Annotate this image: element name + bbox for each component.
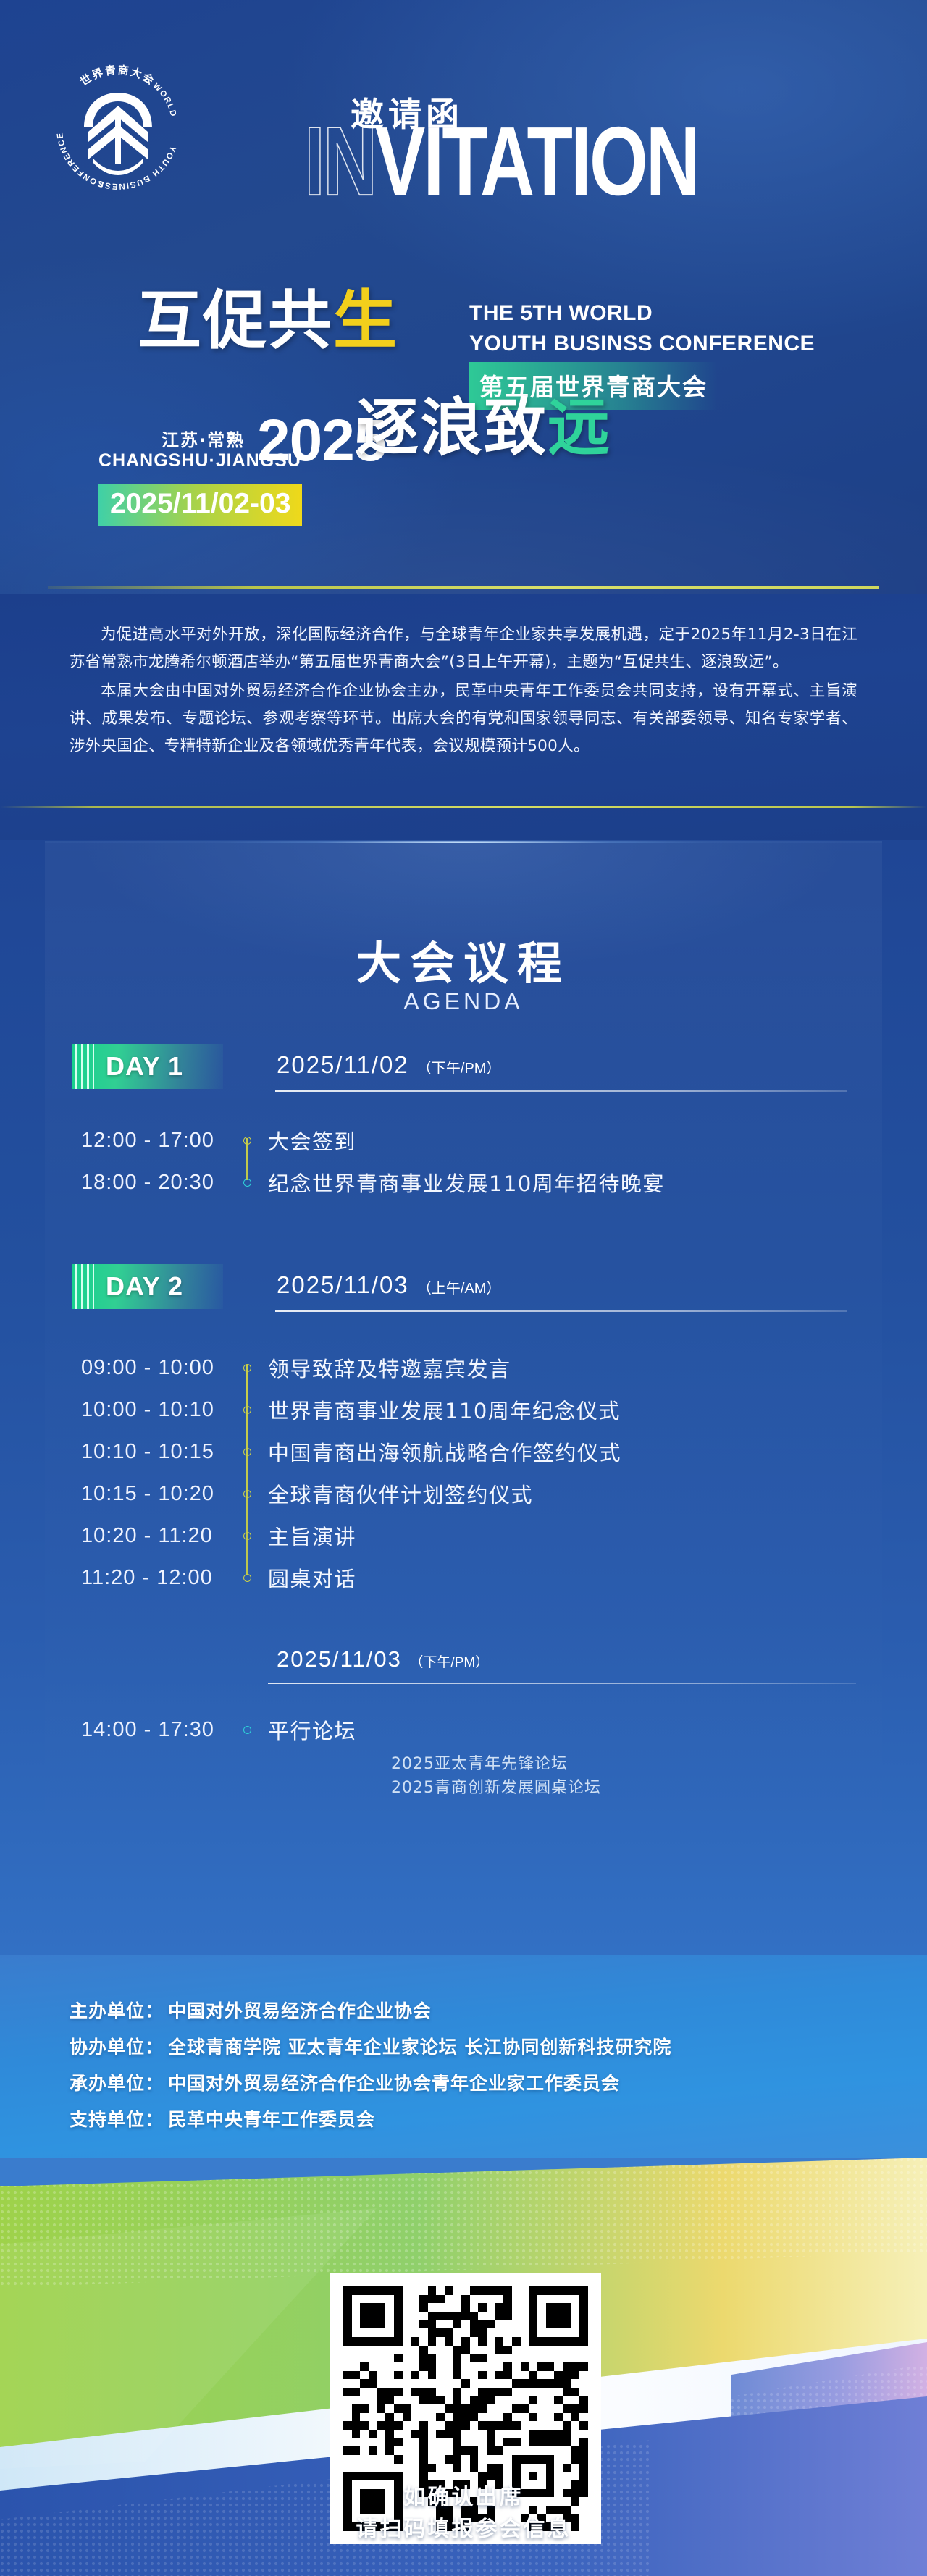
- timeline-dot-icon: [243, 1532, 251, 1540]
- slogan-line-1-accent: 生: [333, 282, 398, 358]
- slot-label: 世界青商事业发展110周年纪念仪式: [268, 1394, 621, 1425]
- date-range-text: 2025/11/02-03: [110, 488, 290, 519]
- place-cn: 江苏·常熟: [162, 426, 245, 451]
- slogan-line-2: 逐浪致远: [356, 397, 611, 459]
- afternoon-slots: 14:00 - 17:30 平行论坛 2025亚太青年先锋论坛 2025青商创新…: [81, 1697, 927, 1800]
- timeline-dot-icon: [243, 1726, 251, 1734]
- day-badge-1: DAY 1: [72, 1044, 223, 1089]
- organizer-key: 支持单位：: [70, 2105, 164, 2131]
- day-2-date: 2025/11/03 （上午/AM）: [277, 1271, 500, 1299]
- slot-label: 主旨演讲: [268, 1520, 356, 1551]
- slot-time: 18:00 - 20:30: [81, 1171, 226, 1195]
- agenda-title: 大会议程: [0, 927, 927, 992]
- timeline-dot-icon: [243, 1137, 251, 1145]
- slot-label: 大会签到: [268, 1125, 356, 1156]
- organizer-value: 民革中央青年工作委员会: [168, 2105, 375, 2131]
- date-range-chip: 2025/11/02-03: [98, 484, 302, 526]
- slogan-line-1: 互促共生: [138, 288, 398, 352]
- agenda-day-header: DAY 1 2025/11/02 （下午/PM）: [72, 1034, 927, 1105]
- slot-dot-column: [226, 1364, 268, 1372]
- slot-label: 圆桌对话: [268, 1562, 356, 1593]
- organizer-value: 中国对外贸易经济合作企业协会青年企业家工作委员会: [168, 2069, 620, 2095]
- slot-dot-column: [226, 1490, 268, 1498]
- svg-text:世界青商大会: 世界青商大会: [77, 64, 157, 89]
- divider-bottom: [0, 806, 927, 808]
- slot-dot-column: [226, 1137, 268, 1145]
- slot-label: 领导致辞及特邀嘉宾发言: [268, 1352, 511, 1383]
- agenda-slot: 18:00 - 20:30 纪念世界青商事业发展110周年招待晚宴: [81, 1161, 927, 1203]
- svg-text:CONFERENCE: CONFERENCE: [56, 131, 105, 188]
- slogan-line-2-main: 逐浪致: [356, 391, 548, 464]
- agenda-slot: 10:00 - 10:10 世界青商事业发展110周年纪念仪式: [81, 1389, 927, 1431]
- slot-dot-column: [226, 1448, 268, 1456]
- slot-time: 12:00 - 17:00: [81, 1129, 226, 1153]
- footer-cta: 如确认出席 请扫码填报参会信息: [0, 2482, 927, 2546]
- intro-paragraph-2: 本届大会由中国对外贸易经济合作企业协会主办，民革中央青年工作委员会共同支持，设有…: [70, 678, 857, 760]
- organizer-key: 承办单位：: [70, 2069, 164, 2095]
- day-2-ampm: （上午/AM）: [417, 1281, 501, 1297]
- agenda-day-header: DAY 2 2025/11/03 （上午/AM）: [72, 1254, 927, 1325]
- conference-name-en-line2: YOUTH BUSINSS CONFERENCE: [469, 329, 815, 359]
- organizer-key: 主办单位：: [70, 1997, 164, 2023]
- organizer-value: 全球青商学院 亚太青年企业家论坛 长江协同创新科技研究院: [168, 2033, 671, 2059]
- day-1-date-text: 2025/11/02: [277, 1051, 409, 1078]
- slot-dot-column: [226, 1574, 268, 1582]
- conference-name-en-line1: THE 5TH WORLD: [469, 298, 815, 329]
- organizer-row: 主办单位： 中国对外贸易经济合作企业协会: [70, 1997, 927, 2023]
- slot-time: 10:15 - 10:20: [81, 1482, 226, 1506]
- slot-time: 14:00 - 17:30: [81, 1718, 226, 1742]
- day-badge-2-label: DAY 2: [106, 1271, 183, 1302]
- agenda-slot: 09:00 - 10:00 领导致辞及特邀嘉宾发言: [81, 1347, 927, 1389]
- slot-label: 纪念世界青商事业发展110周年招待晚宴: [268, 1167, 665, 1197]
- timeline-dot-icon: [243, 1179, 251, 1187]
- sub-item: 2025亚太青年先锋论坛: [391, 1752, 927, 1776]
- day-2-rule: [275, 1310, 847, 1312]
- agenda-subtitle: AGENDA: [0, 988, 927, 1015]
- organizer-row: 承办单位： 中国对外贸易经济合作企业协会青年企业家工作委员会: [70, 2069, 927, 2095]
- organizer-row: 协办单位： 全球青商学院 亚太青年企业家论坛 长江协同创新科技研究院: [70, 2033, 927, 2059]
- day-badge-2: DAY 2: [72, 1264, 223, 1309]
- intro-section: 为促进高水平对外开放，深化国际经济合作，与全球青年企业家共享发展机遇，定于202…: [0, 594, 927, 840]
- timeline-dot-icon: [243, 1364, 251, 1372]
- organizer-value: 中国对外贸易经济合作企业协会: [168, 1997, 432, 2023]
- slot-dot-column: [226, 1726, 268, 1734]
- organizers-section: 主办单位： 中国对外贸易经济合作企业协会 协办单位： 全球青商学院 亚太青年企业…: [0, 1955, 927, 2158]
- agenda-slot: 10:10 - 10:15 中国青商出海领航战略合作签约仪式: [81, 1431, 927, 1473]
- day-badge-1-label: DAY 1: [106, 1051, 183, 1082]
- agenda-slot: 14:00 - 17:30 平行论坛: [81, 1709, 927, 1751]
- slot-time: 10:20 - 11:20: [81, 1524, 226, 1548]
- agenda-day-list: DAY 1 2025/11/02 （下午/PM） 12:00 - 17:00 大…: [0, 1034, 927, 1800]
- slot-label: 全球青商伙伴计划签约仪式: [268, 1478, 533, 1509]
- day-1-slots: 12:00 - 17:00 大会签到 18:00 - 20:30 纪念世界青商事…: [81, 1105, 927, 1203]
- afternoon-date: 2025/11/03 （下午/PM）: [277, 1646, 489, 1672]
- agenda-slot: 12:00 - 17:00 大会签到: [81, 1119, 927, 1161]
- agenda-slot: 11:20 - 12:00 圆桌对话: [81, 1557, 927, 1599]
- invitation-title-en: INVITATION: [304, 113, 698, 211]
- svg-text:WORLD: WORLD: [151, 82, 178, 119]
- slot-time: 10:00 - 10:10: [81, 1398, 226, 1422]
- slot-dot-column: [226, 1179, 268, 1187]
- intro-paragraph-1: 为促进高水平对外开放，深化国际经济合作，与全球青年企业家共享发展机遇，定于202…: [70, 621, 857, 676]
- agenda-afternoon-header: 2025/11/03 （下午/PM）: [72, 1635, 927, 1697]
- hero-section: 世界青商大会 WORLD YOUTH BUSINESS CONFERENCE: [0, 0, 927, 594]
- slot-label: 中国青商出海领航战略合作签约仪式: [268, 1436, 621, 1467]
- day-2-slots: 09:00 - 10:00 领导致辞及特邀嘉宾发言 10:00 - 10:10 …: [81, 1325, 927, 1599]
- conference-logo: 世界青商大会 WORLD YOUTH BUSINESS CONFERENCE: [42, 52, 194, 204]
- slot-label: 平行论坛: [268, 1714, 356, 1745]
- slogan-line-1-main: 互促共: [138, 282, 333, 358]
- stripes-decoration: [75, 1264, 94, 1309]
- day-1-ampm: （下午/PM）: [417, 1061, 501, 1077]
- timeline-dot-icon: [243, 1406, 251, 1414]
- day-1-date: 2025/11/02 （下午/PM）: [277, 1051, 500, 1079]
- timeline-dot-icon: [243, 1448, 251, 1456]
- afternoon-sub-items: 2025亚太青年先锋论坛 2025青商创新发展圆桌论坛: [391, 1752, 927, 1800]
- conference-name-en: THE 5TH WORLD YOUTH BUSINSS CONFERENCE: [469, 298, 815, 359]
- invitation-title-block: 邀请函 INVITATION: [306, 87, 849, 210]
- slot-dot-column: [226, 1406, 268, 1414]
- agenda-slot: 10:20 - 11:20 主旨演讲: [81, 1515, 927, 1557]
- agenda-top-glow: [45, 841, 882, 843]
- afternoon-ampm: （下午/PM）: [409, 1655, 489, 1670]
- timeline-dot-icon: [243, 1574, 251, 1582]
- divider-top: [48, 586, 879, 589]
- day-1-rule: [275, 1090, 847, 1092]
- afternoon-rule: [268, 1683, 856, 1684]
- cta-line-1: 如确认出席: [0, 2482, 927, 2514]
- sub-item: 2025青商创新发展圆桌论坛: [391, 1776, 927, 1800]
- timeline-dot-icon: [243, 1490, 251, 1498]
- slot-time: 09:00 - 10:00: [81, 1356, 226, 1380]
- agenda-slot: 10:15 - 10:20 全球青商伙伴计划签约仪式: [81, 1473, 927, 1515]
- slot-dot-column: [226, 1532, 268, 1540]
- slot-time: 11:20 - 12:00: [81, 1566, 226, 1590]
- cta-line-2: 请扫码填报参会信息: [0, 2514, 927, 2546]
- stripes-decoration: [75, 1044, 94, 1089]
- organizer-row: 支持单位： 民革中央青年工作委员会: [70, 2105, 927, 2131]
- intro-text: 为促进高水平对外开放，深化国际经济合作，与全球青年企业家共享发展机遇，定于202…: [70, 621, 857, 760]
- slogan-line-2-accent: 远: [548, 391, 611, 464]
- day-2-date-text: 2025/11/03: [277, 1271, 409, 1298]
- afternoon-date-text: 2025/11/03: [277, 1646, 402, 1672]
- slot-time: 10:10 - 10:15: [81, 1440, 226, 1464]
- organizer-key: 协办单位：: [70, 2033, 164, 2059]
- agenda-section: 大会议程 AGENDA DAY 1 2025/11/02 （下午/PM） 12:…: [0, 840, 927, 1955]
